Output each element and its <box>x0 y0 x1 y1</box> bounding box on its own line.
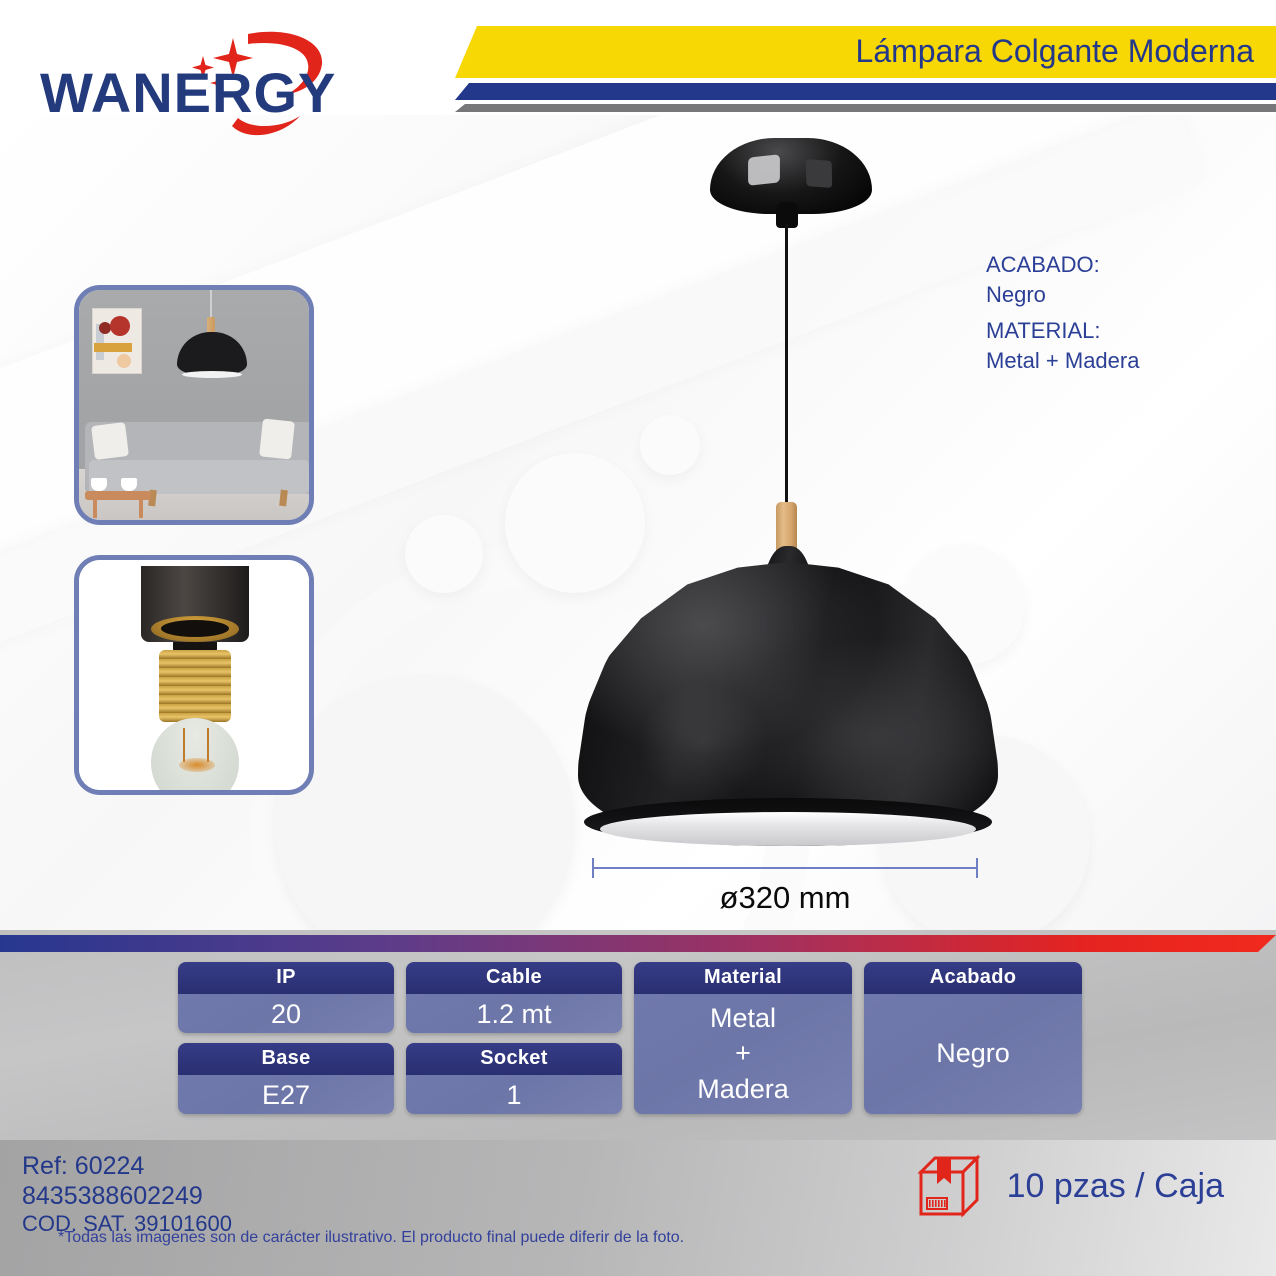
power-cord <box>785 224 788 504</box>
ean-code: 8435388602249 <box>22 1182 232 1212</box>
spec-card-value: Metal + Madera <box>634 994 852 1114</box>
spec-column: Material Metal + Madera <box>634 962 852 1114</box>
page-footer: Ref: 60224 8435388602249 COD. SAT. 39101… <box>0 1140 1276 1276</box>
spec-column: Cable 1.2 mt Socket 1 <box>406 962 622 1114</box>
spec-card-material: Material Metal + Madera <box>634 962 852 1114</box>
background-circle <box>405 515 483 593</box>
scene-cup <box>91 478 107 491</box>
dimension-line <box>592 858 978 878</box>
thumbnail-living-room-scene[interactable] <box>74 285 314 525</box>
finish-callout: ACABADO: Negro <box>986 250 1100 309</box>
packaging-info: 10 pzas / Caja <box>917 1154 1224 1218</box>
packaging-label: 10 pzas / Caja <box>1007 1167 1224 1206</box>
spec-card-ip: IP 20 <box>178 962 394 1033</box>
canopy-shadow <box>806 159 832 188</box>
scene-cup <box>121 478 137 491</box>
page-header: WANERGY Lámpara Colgante Moderna <box>0 0 1276 115</box>
bulb-filament <box>183 728 209 762</box>
thumbnail-socket-detail[interactable] <box>74 555 314 795</box>
scene-table-leg <box>139 498 143 518</box>
product-image-pendant-lamp <box>560 130 1020 860</box>
spec-column: Acabado Negro <box>864 962 1082 1114</box>
scene-table-leg <box>93 498 97 518</box>
bulb-screw-base <box>159 650 231 722</box>
product-datasheet: WANERGY Lámpara Colgante Moderna <box>0 0 1276 1276</box>
spec-card-header: Base <box>178 1043 394 1075</box>
scene-pillow <box>259 418 295 459</box>
dimension-label: ø320 mm <box>560 880 1010 916</box>
bulb-filament-glow <box>179 758 215 772</box>
section-divider <box>0 935 1276 952</box>
banner-gray-stripe <box>455 104 1276 112</box>
canopy-highlight <box>748 154 780 185</box>
dimension-cap-right <box>976 858 978 878</box>
scene-pillow <box>91 422 129 460</box>
scene-art-shape <box>117 354 131 368</box>
spec-card-acabado: Acabado Negro <box>864 962 1082 1114</box>
spec-card-cable: Cable 1.2 mt <box>406 962 622 1033</box>
spec-card-value: Negro <box>864 994 1082 1114</box>
banner-blue-stripe <box>455 83 1276 100</box>
header-banner: Lámpara Colgante Moderna <box>455 0 1276 115</box>
box-icon <box>917 1154 981 1218</box>
scene-art-shape <box>110 316 130 336</box>
spec-card-value: 20 <box>178 994 394 1033</box>
finish-value: Negro <box>986 280 1100 310</box>
spec-card-header: IP <box>178 962 394 994</box>
spec-card-value: E27 <box>178 1075 394 1114</box>
scene-art-shape <box>94 343 132 352</box>
page-title: Lámpara Colgante Moderna <box>856 33 1254 70</box>
lamp-shade <box>578 562 998 852</box>
material-label: MATERIAL: <box>986 316 1139 346</box>
spec-card-grid: IP 20 Base E27 Cable 1.2 mt Socket 1 <box>178 962 1098 1114</box>
socket-opening <box>161 620 229 637</box>
shade-interior <box>600 812 976 846</box>
spec-card-header: Socket <box>406 1043 622 1075</box>
reference-code: Ref: 60224 <box>22 1152 232 1182</box>
reference-block: Ref: 60224 8435388602249 COD. SAT. 39101… <box>22 1152 232 1237</box>
spec-card-value: 1 <box>406 1075 622 1114</box>
brand-name: WANERGY <box>40 60 336 125</box>
brand-logo: WANERGY <box>28 12 448 112</box>
specifications-section: IP 20 Base E27 Cable 1.2 mt Socket 1 <box>0 930 1276 1140</box>
material-callout: MATERIAL: Metal + Madera <box>986 316 1139 375</box>
spec-card-value: 1.2 mt <box>406 994 622 1033</box>
material-value: Metal + Madera <box>986 346 1139 376</box>
dimension-rule <box>592 867 978 869</box>
shade-highlight <box>638 682 768 802</box>
spec-card-socket: Socket 1 <box>406 1043 622 1114</box>
finish-label: ACABADO: <box>986 250 1100 280</box>
spec-column: IP 20 Base E27 <box>178 962 394 1114</box>
spec-card-header: Material <box>634 962 852 994</box>
spec-card-header: Cable <box>406 962 622 994</box>
spec-card-base: Base E27 <box>178 1043 394 1114</box>
scene-lamp-cord <box>210 290 212 320</box>
scene-coffee-table <box>85 491 151 500</box>
spec-card-header: Acabado <box>864 962 1082 994</box>
disclaimer-text: *Todas las imagenes son de carácter ilus… <box>58 1229 684 1247</box>
